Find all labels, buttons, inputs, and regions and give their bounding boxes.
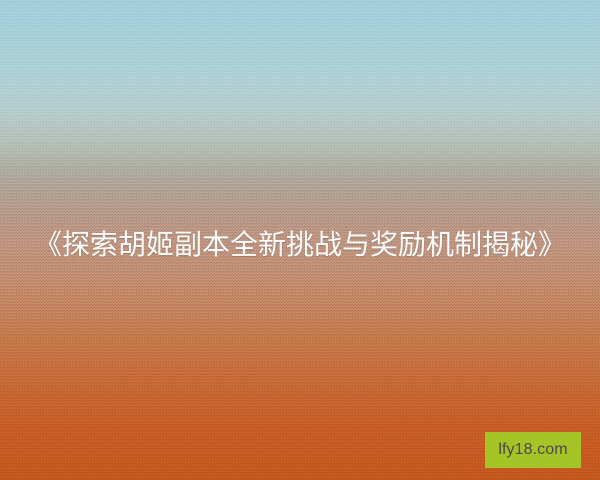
watermark-badge: lfy18.com xyxy=(485,432,581,468)
headline-title: 《探索胡姬副本全新挑战与奖励机制揭秘》 xyxy=(0,225,600,265)
image-canvas: 《探索胡姬副本全新挑战与奖励机制揭秘》 lfy18.com xyxy=(0,0,600,480)
watermark-label: lfy18.com xyxy=(498,442,567,458)
